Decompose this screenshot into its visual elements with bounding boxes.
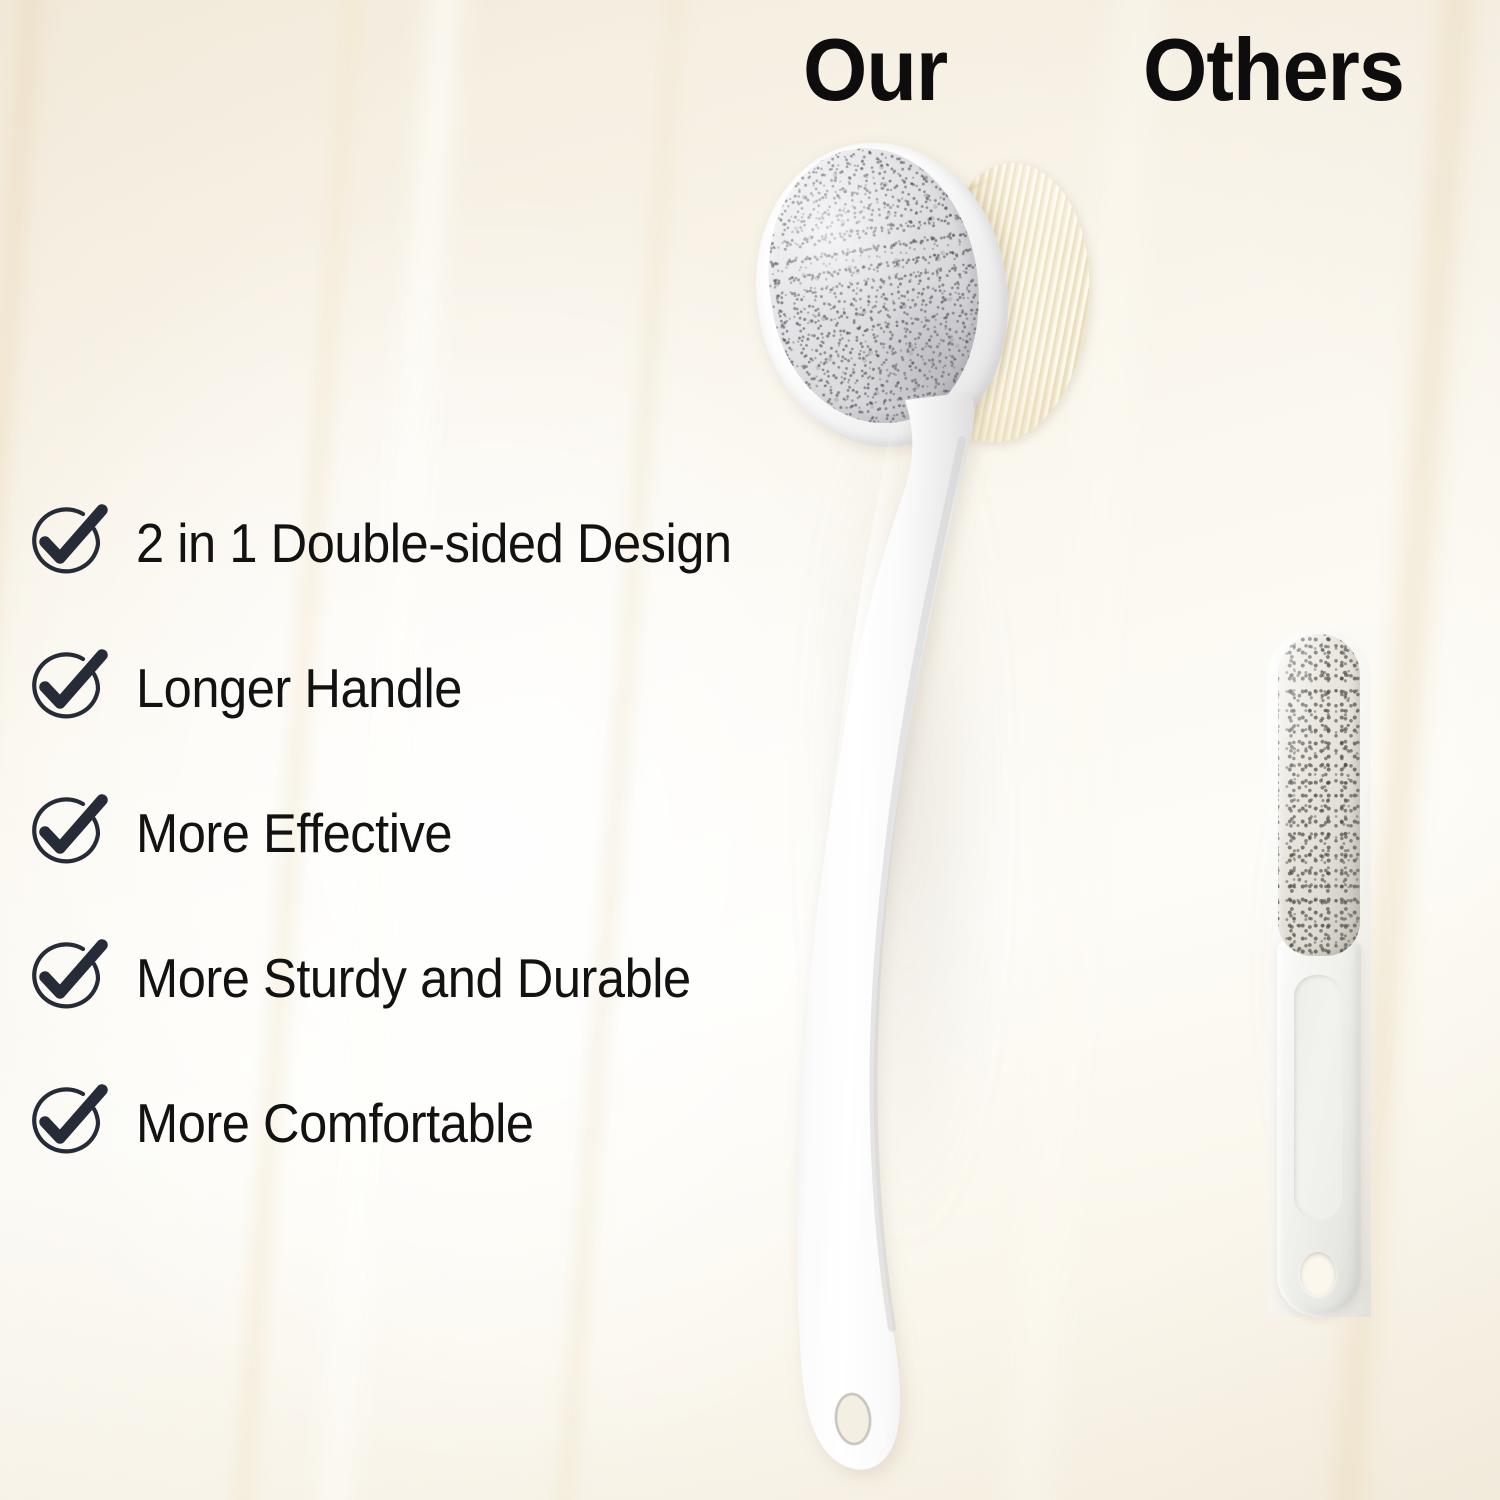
check-circle-icon [28, 504, 106, 582]
feature-label: 2 in 1 Double-sided Design [136, 516, 732, 571]
feature-item: More Sturdy and Durable [28, 938, 739, 1018]
feature-item: Longer Handle [28, 648, 490, 728]
check-circle-icon [28, 939, 106, 1017]
check-circle-icon [28, 649, 106, 727]
check-circle-icon [28, 794, 106, 872]
background-vignette [0, 0, 1500, 1500]
feature-label: More Sturdy and Durable [136, 951, 691, 1006]
feature-label: More Comfortable [136, 1096, 534, 1151]
feature-label: Longer Handle [136, 661, 462, 716]
feature-item: More Effective [28, 793, 480, 873]
check-circle-icon [28, 1084, 106, 1162]
feature-item: 2 in 1 Double-sided Design [28, 503, 783, 583]
feature-item: More Comfortable [28, 1083, 568, 1163]
others-column-header: Others [1143, 26, 1404, 114]
our-column-header: Our [803, 26, 947, 114]
feature-label: More Effective [136, 806, 452, 861]
